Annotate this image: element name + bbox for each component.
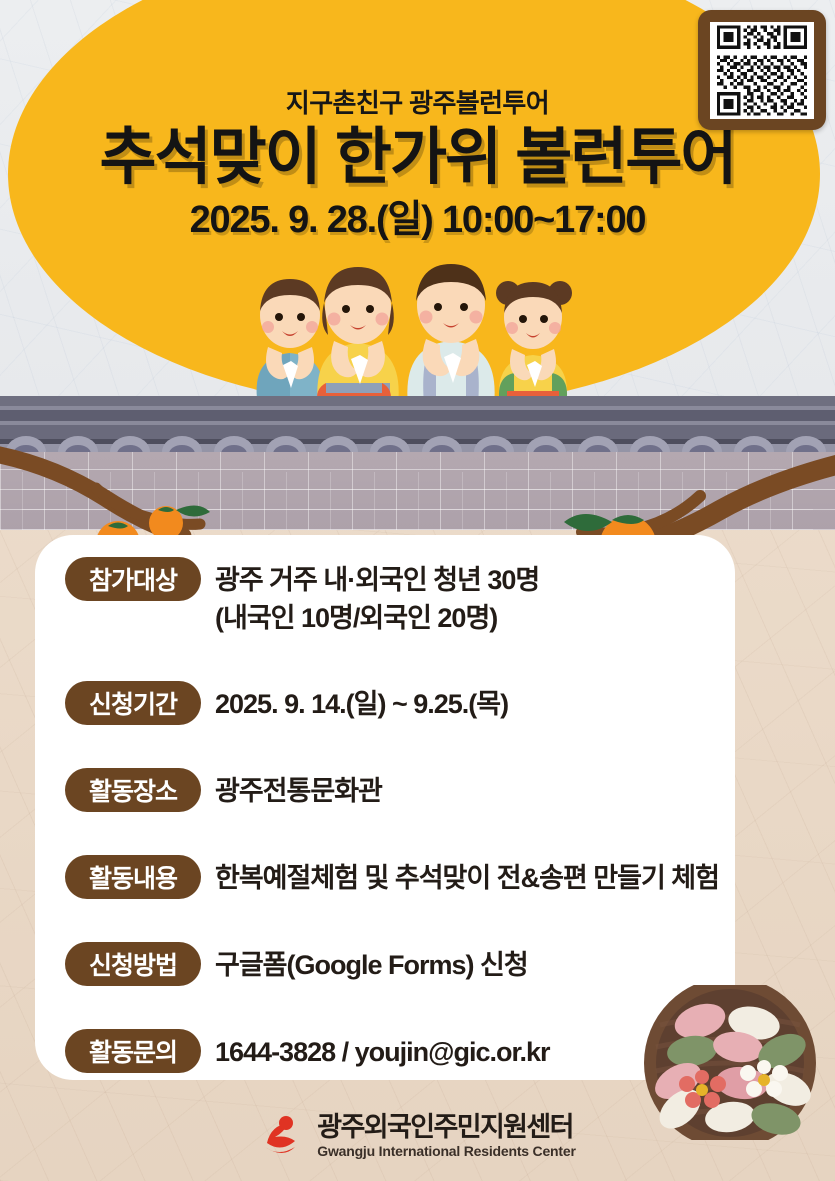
info-row-activity: 활동내용 한복예절체험 및 추석맞이 전&송편 만들기 체험 (65, 855, 719, 899)
badge-activity: 활동내용 (65, 855, 201, 899)
org-name-ko: 광주외국인주민지원센터 (317, 1113, 575, 1141)
badge-application-period: 신청기간 (65, 681, 201, 725)
info-row-application-period: 신청기간 2025. 9. 14.(일) ~ 9.25.(목) (65, 681, 508, 725)
badge-participants: 참가대상 (65, 557, 201, 601)
qr-code-icon[interactable] (710, 22, 814, 119)
footer-texts: 광주외국인주민지원센터 Gwangju International Reside… (317, 1113, 575, 1159)
info-row-how-to-apply: 신청방법 구글폼(Google Forms) 신청 (65, 942, 528, 986)
stone-wall-detail (22, 472, 813, 530)
badge-location: 활동장소 (65, 768, 201, 812)
family-hanbok-illustration (0, 255, 835, 415)
org-name-en: Gwangju International Residents Center (317, 1144, 575, 1159)
badge-how-to-apply: 신청방법 (65, 942, 201, 986)
value-location: 광주전통문화관 (215, 768, 382, 810)
value-participants: 광주 거주 내·외국인 청년 30명 (내국인 10명/외국인 20명) (215, 557, 539, 638)
footer-logo-block: 광주외국인주민지원센터 Gwangju International Reside… (0, 1113, 835, 1159)
value-how-to-apply: 구글폼(Google Forms) 신청 (215, 942, 528, 984)
value-application-period: 2025. 9. 14.(일) ~ 9.25.(목) (215, 681, 508, 723)
info-row-participants: 참가대상 광주 거주 내·외국인 청년 30명 (내국인 10명/외국인 20명… (65, 557, 539, 638)
gic-logo-icon (259, 1113, 305, 1159)
info-row-contact: 활동문의 1644-3828 / youjin@gic.or.kr (65, 1029, 550, 1073)
event-datetime: 2025. 9. 28.(일) 10:00~17:00 (0, 199, 835, 243)
value-activity: 한복예절체험 및 추석맞이 전&송편 만들기 체험 (215, 855, 719, 897)
poster-root: 참가대상 광주 거주 내·외국인 청년 30명 (내국인 10명/외국인 20명… (0, 0, 835, 1181)
info-row-location: 활동장소 광주전통문화관 (65, 768, 382, 812)
badge-contact: 활동문의 (65, 1029, 201, 1073)
qr-code-frame[interactable] (698, 10, 826, 130)
value-contact: 1644-3828 / youjin@gic.or.kr (215, 1029, 550, 1071)
page-title: 추석맞이 한가위 볼런투어 (0, 123, 835, 192)
